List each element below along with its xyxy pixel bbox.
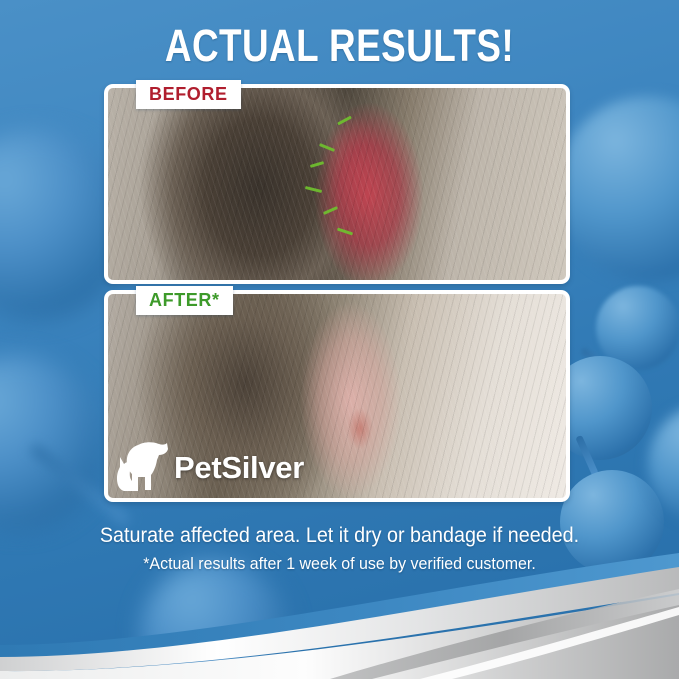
molecule-bond-icon [575, 435, 598, 476]
brand-logo: PetSilver [116, 440, 304, 494]
bottom-swoosh-decoration [0, 549, 679, 679]
molecule-sphere-icon [556, 96, 679, 281]
molecule-bond-icon [580, 347, 624, 380]
ad-creative: ACTUAL RESULTS! BEFORE AFTER* PetSilver … [0, 0, 679, 679]
badge-before: BEFORE [136, 80, 241, 109]
molecule-sphere-icon [596, 286, 679, 370]
brand-logo-text: PetSilver [174, 452, 304, 483]
instruction-caption: Saturate affected area. Let it dry or ba… [20, 524, 658, 548]
fur-texture [108, 88, 566, 280]
before-photo-card [104, 84, 570, 284]
molecule-sphere-icon [648, 404, 679, 524]
page-title: ACTUAL RESULTS! [61, 22, 618, 70]
badge-after: AFTER* [136, 286, 233, 315]
molecule-sphere-icon [0, 355, 105, 530]
dog-cat-silhouette-icon [116, 440, 172, 494]
before-photo [108, 88, 566, 280]
